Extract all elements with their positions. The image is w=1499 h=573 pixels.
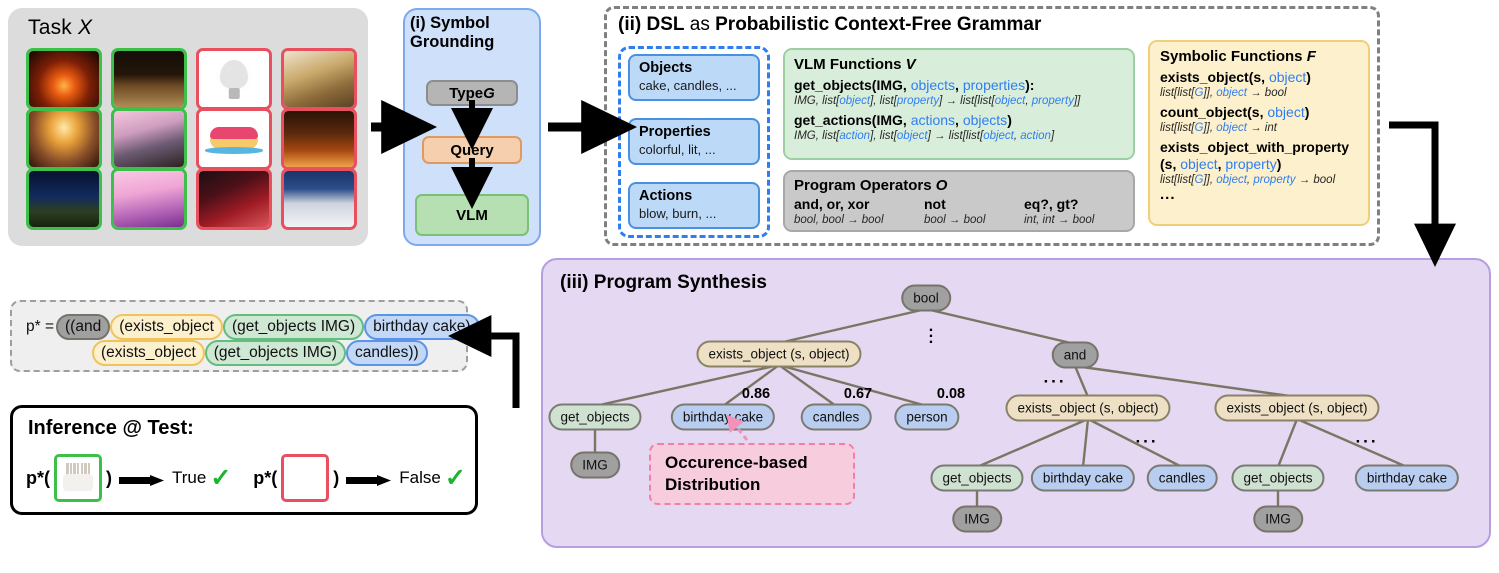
inference-prefix: p*( xyxy=(26,468,50,489)
thumbnail-image xyxy=(29,51,99,107)
code-token: object xyxy=(995,95,1026,107)
type-g-box: Type G xyxy=(426,80,518,106)
inference-arrow-icon xyxy=(119,473,165,484)
tree-node-eo1[interactable]: exists_object (s, object) xyxy=(696,341,861,368)
tree-node-go3[interactable]: get_objects xyxy=(1231,465,1324,492)
pstar-token: ((and xyxy=(56,314,110,340)
category-objects: Objects cake, candles, ... xyxy=(628,54,760,101)
pstar-token: (exists_object xyxy=(110,314,223,340)
task-thumbnail[interactable] xyxy=(196,168,272,230)
inference-arrow-icon xyxy=(346,473,392,484)
code-token: object xyxy=(1269,69,1306,85)
code-token: ]], xyxy=(1203,122,1216,134)
pstar-lead: p* = xyxy=(24,316,56,338)
code-token: action xyxy=(1020,130,1051,142)
pstar-token: (exists_object xyxy=(92,340,205,366)
tree-ellipsis: ··· xyxy=(1136,432,1159,452)
program-operator-entry: and, or, xorbool, bool → bool xyxy=(794,196,924,228)
tree-node-bcake1[interactable]: birthday cake xyxy=(671,404,775,431)
function-signature: count_object(s, object) xyxy=(1160,104,1358,121)
code-token: → bool xyxy=(1247,87,1287,99)
arrow-synthesis-to-pstar xyxy=(483,336,516,408)
code-token: ) xyxy=(1277,156,1282,172)
dsl-title: (ii) DSL as Probabilistic Context-Free G… xyxy=(618,14,1041,36)
type-label: Type xyxy=(449,85,483,102)
category-actions-heading: Actions xyxy=(639,188,758,205)
code-token: ], list[ xyxy=(870,95,897,107)
arrow-dsl-to-synthesis xyxy=(1389,125,1435,232)
code-token: get_objects(IMG, xyxy=(794,77,911,93)
tree-node-img2[interactable]: IMG xyxy=(952,506,1002,533)
code-token: → int xyxy=(1247,122,1277,134)
code-token: ]] xyxy=(1074,95,1080,107)
symbolic-functions-heading-text: Symbolic Functions xyxy=(1160,48,1307,65)
dsl-title-b: as xyxy=(685,14,716,35)
category-properties-heading: Properties xyxy=(639,124,758,141)
category-actions: Actions blow, burn, ... xyxy=(628,182,760,229)
thumbnail-image xyxy=(199,51,269,107)
vlm-function-entry-list: get_objects(IMG, objects, properties):IM… xyxy=(794,77,1124,144)
inference-result: False xyxy=(399,468,441,488)
function-signature-cont: (s, object, property) xyxy=(1160,156,1358,173)
symbolic-functions-box: Symbolic Functions F exists_object(s, ob… xyxy=(1148,40,1370,226)
code-token: properties xyxy=(963,77,1025,93)
function-type: IMG, list[action], list[object] → list[l… xyxy=(794,129,1124,144)
vlm-functions-heading: VLM Functions V xyxy=(794,55,1124,74)
operator-name: not xyxy=(924,196,1024,213)
function-type: list[list[G]], object → int xyxy=(1160,121,1358,136)
pstar-token: (get_objects IMG) xyxy=(205,340,346,366)
code-token: → bool xyxy=(1296,174,1336,186)
inference-thumbnail[interactable] xyxy=(54,454,102,502)
code-token: ] xyxy=(1051,130,1054,142)
function-signature: get_objects(IMG, objects, properties): xyxy=(794,77,1124,94)
category-properties-examples: colorful, lit, ... xyxy=(639,141,758,158)
tree-node-go1[interactable]: get_objects xyxy=(548,404,641,431)
program-operators-heading-text: Program Operators xyxy=(794,177,936,194)
code-token: object xyxy=(1180,156,1217,172)
symbolic-function-entry-list: exists_object(s, object)list[list[G]], o… xyxy=(1160,69,1358,188)
task-thumbnail[interactable] xyxy=(281,48,357,110)
code-token: action xyxy=(839,130,870,142)
code-token: object xyxy=(1216,174,1247,186)
program-operators-box: Program Operators O and, or, xorbool, bo… xyxy=(783,170,1135,232)
function-signature: get_actions(IMG, actions, objects) xyxy=(794,112,1124,129)
task-thumbnail[interactable] xyxy=(26,108,102,170)
code-token: IMG, list[ xyxy=(794,130,839,142)
thumbnail-image xyxy=(199,171,269,227)
thumbnail-image xyxy=(29,111,99,167)
code-token: list[list[ xyxy=(1160,87,1195,99)
symbolic-function-entry: exists_object(s, object)list[list[G]], o… xyxy=(1160,69,1358,101)
symbolic-functions-ellipsis: ... xyxy=(1160,188,1358,201)
code-token: property xyxy=(1032,95,1074,107)
function-signature: exists_object(s, object) xyxy=(1160,69,1358,86)
operator-name: eq?, gt? xyxy=(1024,196,1094,213)
category-actions-examples: blow, burn, ... xyxy=(639,205,758,222)
vlm-functions-heading-text: VLM Functions xyxy=(794,56,906,73)
code-token: actions xyxy=(911,112,955,128)
code-token: ], list[ xyxy=(870,130,897,142)
thumbnail-image xyxy=(114,51,184,107)
edge-probability: 0.08 xyxy=(937,386,965,402)
tree-node-eo3[interactable]: exists_object (s, object) xyxy=(1214,395,1379,422)
task-thumbnail[interactable] xyxy=(111,168,187,230)
program-synthesis-title: (iii) Program Synthesis xyxy=(560,272,767,294)
inference-suffix: ) xyxy=(333,468,339,489)
dsl-title-a: (ii) DSL xyxy=(618,14,685,35)
type-variable: G xyxy=(483,85,495,102)
tree-node-candles2[interactable]: candles xyxy=(1147,465,1218,492)
task-title: Task X xyxy=(28,16,92,40)
pstar-line-2: (exists_object(get_objects IMG)candles)) xyxy=(92,340,428,366)
code-token: ] → list[list[ xyxy=(939,95,995,107)
tree-node-img1[interactable]: IMG xyxy=(570,452,620,479)
operator-name: and, or, xor xyxy=(794,196,924,213)
pstar-token: (get_objects IMG) xyxy=(223,314,364,340)
figure-root: Task X Type G Query VLM (i) Symbol Groun… xyxy=(0,0,1499,573)
task-thumbnail[interactable] xyxy=(111,108,187,170)
task-title-text: Task xyxy=(28,16,78,39)
thumbnail-image xyxy=(114,171,184,227)
inference-result: True xyxy=(172,468,206,488)
program-operator-entry: notbool → bool xyxy=(924,196,1024,228)
program-operators-list: and, or, xorbool, bool → boolnotbool → b… xyxy=(794,196,1124,228)
thumbnail-image xyxy=(284,171,354,227)
code-token: object xyxy=(839,95,870,107)
function-signature: exists_object_with_property xyxy=(1160,139,1358,156)
inference-title: Inference @ Test: xyxy=(28,417,194,440)
program-operators-heading-var: O xyxy=(936,177,948,194)
inference-suffix: ) xyxy=(106,468,112,489)
vlm-box: VLM xyxy=(415,194,529,236)
tree-node-go2[interactable]: get_objects xyxy=(930,465,1023,492)
inference-case: p*()False✓ xyxy=(253,454,466,502)
tree-node-bcake2[interactable]: birthday cake xyxy=(1031,465,1135,492)
code-token: object xyxy=(1216,87,1247,99)
query-box: Query xyxy=(422,136,522,164)
pstar-token: candles)) xyxy=(346,340,428,366)
thumbnail-image xyxy=(114,111,184,167)
code-token: get_actions(IMG, xyxy=(794,112,911,128)
task-thumbnail[interactable] xyxy=(281,108,357,170)
code-token: object xyxy=(1267,104,1304,120)
thumbnail-image xyxy=(199,111,269,167)
tree-node-person[interactable]: person xyxy=(894,404,959,431)
code-token: object xyxy=(897,130,928,142)
checkmark-icon: ✓ xyxy=(445,468,466,488)
code-token: object xyxy=(983,130,1014,142)
sg-title-line2: Grounding xyxy=(410,33,536,52)
code-token: ) xyxy=(1306,69,1311,85)
function-type: list[list[G]], object → bool xyxy=(1160,86,1358,101)
tree-node-img3[interactable]: IMG xyxy=(1253,506,1303,533)
pstar-line-1: p* = ((and(exists_object(get_objects IMG… xyxy=(24,314,480,340)
symbolic-function-entry: exists_object_with_property(s, object, p… xyxy=(1160,139,1358,188)
tree-node-candles1[interactable]: candles xyxy=(801,404,872,431)
operator-type: int, int → bool xyxy=(1024,213,1094,228)
inference-case: p*()True✓ xyxy=(26,454,231,502)
program-operators-heading: Program Operators O xyxy=(794,176,1124,195)
code-token: list[list[ xyxy=(1160,122,1195,134)
tree-ellipsis: ··· xyxy=(1044,372,1067,392)
function-type: list[list[G]], object, property → bool xyxy=(1160,173,1358,188)
task-thumbnail[interactable] xyxy=(196,108,272,170)
symbolic-functions-heading-var: F xyxy=(1307,48,1316,65)
dsl-title-c: Probabilistic Context-Free Grammar xyxy=(715,14,1041,35)
vlm-functions-heading-var: V xyxy=(906,56,916,73)
inference-thumbnail[interactable] xyxy=(281,454,329,502)
code-token: ] → list[list[ xyxy=(928,130,984,142)
pstar-token: birthday cake) xyxy=(364,314,479,340)
vlm-functions-box: VLM Functions V get_objects(IMG, objects… xyxy=(783,48,1135,160)
function-type: IMG, list[object], list[property] → list… xyxy=(794,94,1124,109)
task-image-grid xyxy=(26,48,350,228)
inference-cases-row: p*()True✓p*()False✓ xyxy=(26,452,466,504)
tree-ellipsis: ··· xyxy=(1356,432,1379,452)
occurrence-distribution-annotation: Occurence-based Distribution xyxy=(649,443,855,505)
code-token: , xyxy=(955,77,963,93)
category-properties: Properties colorful, lit, ... xyxy=(628,118,760,165)
annotation-line2: Distribution xyxy=(665,474,853,496)
code-token: ]], xyxy=(1203,174,1216,186)
category-objects-examples: cake, candles, ... xyxy=(639,77,758,94)
code-token: exists_object(s, xyxy=(1160,69,1269,85)
tree-node-and[interactable]: and xyxy=(1052,342,1099,369)
code-token: objects xyxy=(911,77,955,93)
checkmark-icon: ✓ xyxy=(210,468,231,488)
tree-ellipsis: ... xyxy=(929,324,933,342)
inference-prefix: p*( xyxy=(253,468,277,489)
task-thumbnail[interactable] xyxy=(111,48,187,110)
code-token: ]], xyxy=(1203,87,1216,99)
code-token: object xyxy=(1216,122,1247,134)
code-token: property xyxy=(1253,174,1295,186)
code-token: ): xyxy=(1025,77,1034,93)
thumbnail-image xyxy=(284,51,354,107)
program-operator-entry: eq?, gt?int, int → bool xyxy=(1024,196,1094,228)
tree-node-bcake3[interactable]: birthday cake xyxy=(1355,465,1459,492)
vlm-function-entry: get_actions(IMG, actions, objects)IMG, l… xyxy=(794,112,1124,144)
task-thumbnail[interactable] xyxy=(196,48,272,110)
annotation-line1: Occurence-based xyxy=(665,452,853,474)
code-token: ) xyxy=(1305,104,1310,120)
symbolic-functions-heading: Symbolic Functions F xyxy=(1160,47,1358,66)
code-token: exists_object_with_property xyxy=(1160,139,1349,155)
task-thumbnail[interactable] xyxy=(26,48,102,110)
code-token: IMG, list[ xyxy=(794,95,839,107)
category-objects-heading: Objects xyxy=(639,60,758,77)
edge-probability: 0.67 xyxy=(844,386,872,402)
code-token: list[list[ xyxy=(1160,174,1195,186)
code-token: property xyxy=(897,95,939,107)
code-token: property xyxy=(1225,156,1276,172)
symbol-grounding-title: (i) Symbol Grounding xyxy=(410,14,536,52)
edge-probability: 0.86 xyxy=(742,386,770,402)
task-thumbnail[interactable] xyxy=(281,168,357,230)
task-thumbnail[interactable] xyxy=(26,168,102,230)
sg-title-line1: (i) Symbol xyxy=(410,14,536,33)
vlm-function-entry: get_objects(IMG, objects, properties):IM… xyxy=(794,77,1124,109)
code-token: (s, xyxy=(1160,156,1180,172)
thumbnail-image xyxy=(284,111,354,167)
code-token: ) xyxy=(1007,112,1012,128)
operator-type: bool, bool → bool xyxy=(794,213,924,228)
code-token: count_object(s, xyxy=(1160,104,1267,120)
tree-node-eo2[interactable]: exists_object (s, object) xyxy=(1005,395,1170,422)
code-token: , xyxy=(955,112,963,128)
operator-type: bool → bool xyxy=(924,213,1024,228)
code-token: objects xyxy=(963,112,1007,128)
tree-node-bool[interactable]: bool xyxy=(901,285,951,312)
thumbnail-image xyxy=(29,171,99,227)
symbolic-function-entry: count_object(s, object)list[list[G]], ob… xyxy=(1160,104,1358,136)
task-title-variable: X xyxy=(78,16,92,39)
